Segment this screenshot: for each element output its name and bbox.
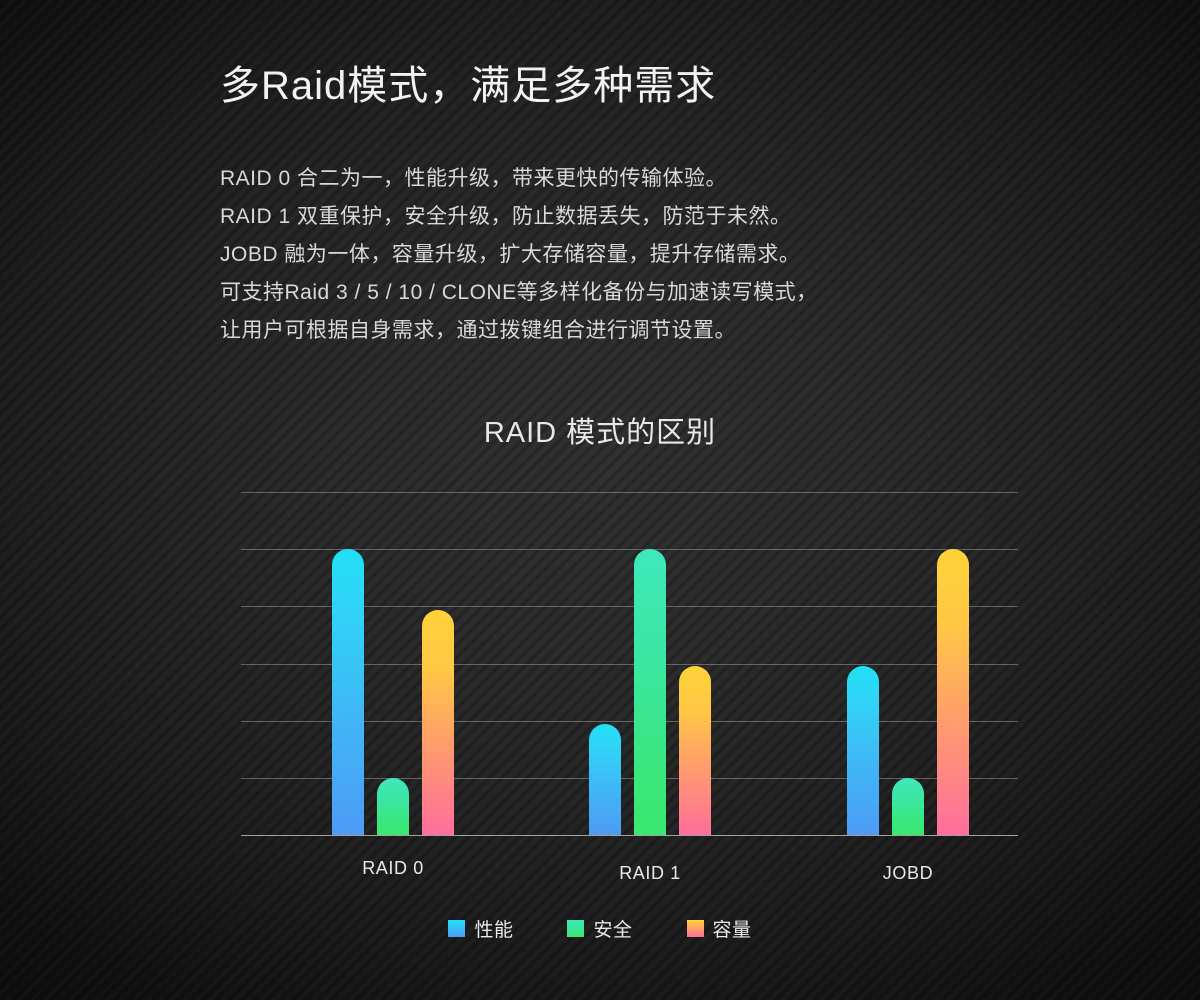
chart-bar (892, 778, 924, 835)
legend-item[interactable]: 性能 (448, 915, 513, 942)
chart-gridline (241, 492, 1018, 493)
x-axis-category-label: JOBD (883, 863, 933, 884)
chart-bar (422, 610, 454, 835)
chart-bar (589, 724, 621, 835)
chart-gridline (241, 835, 1018, 836)
chart-title: RAID 模式的区别 (0, 409, 1200, 451)
chart-gridline (241, 549, 1018, 550)
legend-label: 性能 (474, 915, 513, 942)
x-axis-category-label: RAID 1 (619, 863, 681, 884)
x-axis-category-label: RAID 0 (362, 858, 424, 879)
chart-legend: 性能安全容量 (0, 915, 1200, 942)
chart-bar (332, 549, 364, 835)
legend-swatch-icon (567, 920, 584, 937)
legend-item[interactable]: 容量 (687, 915, 752, 942)
chart-plot-area: 0123456 (241, 492, 1018, 835)
chart-bar (634, 549, 666, 835)
legend-label: 容量 (713, 915, 752, 942)
legend-item[interactable]: 安全 (567, 915, 632, 942)
chart-bar (847, 666, 879, 835)
chart-bar (937, 549, 969, 835)
legend-swatch-icon (687, 920, 704, 937)
chart-bar (679, 666, 711, 835)
chart-bar (377, 778, 409, 835)
raid-comparison-chart: RAID 模式的区别 0123456 性能安全容量 RAID 0RAID 1JO… (0, 0, 1200, 1000)
legend-label: 安全 (593, 915, 632, 942)
legend-swatch-icon (448, 920, 465, 937)
